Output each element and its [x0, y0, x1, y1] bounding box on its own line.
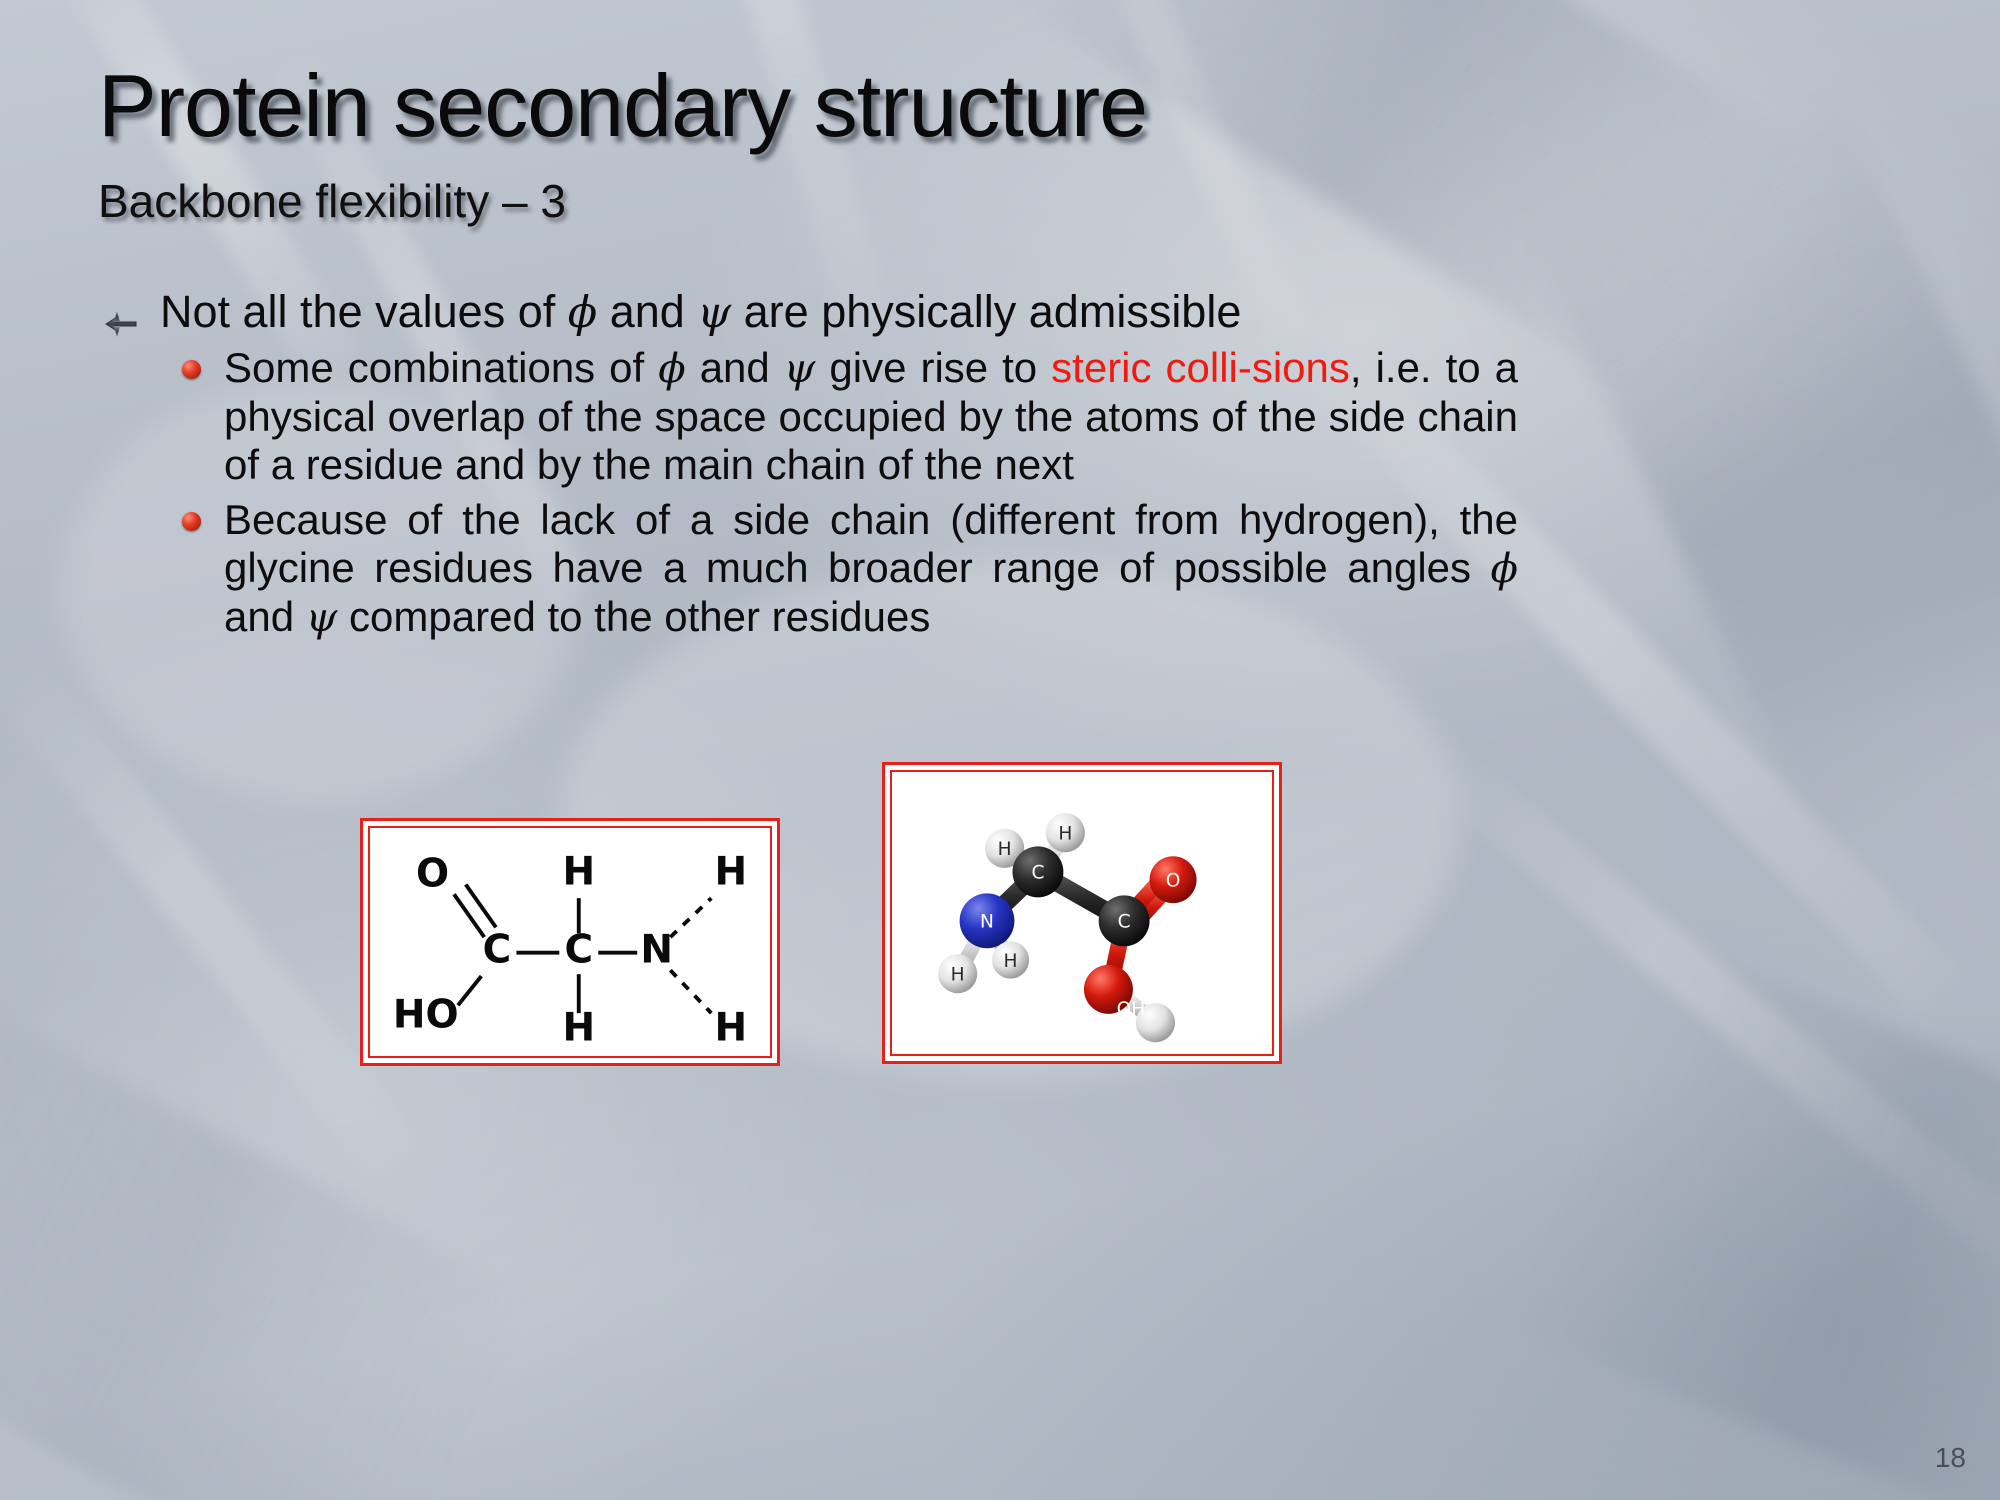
- svg-text:H: H: [714, 850, 747, 895]
- figure-inner-border: O HO C H C H N H H: [368, 826, 772, 1058]
- svg-text:H: H: [951, 965, 965, 986]
- bullet-text-segment: and: [224, 593, 306, 640]
- svg-text:N: N: [640, 927, 673, 972]
- slide-canvas: Protein secondary structure Backbone fle…: [0, 0, 2000, 1500]
- glycine-structural-formula-svg: O HO C H C H N H H: [370, 828, 770, 1056]
- bullet-text-segment: and: [686, 344, 784, 391]
- bullet-level2-item: Some combinations of ϕ and ψ give rise t…: [178, 344, 1518, 490]
- background-helix-strand: [649, 0, 892, 330]
- bullet-text-segment: give rise to: [815, 344, 1051, 391]
- svg-text:H: H: [714, 1005, 747, 1050]
- svg-text:H: H: [562, 850, 595, 895]
- svg-text:HO: HO: [393, 993, 459, 1038]
- bullet-level1-text-a: Not all the values of: [160, 286, 568, 337]
- svg-text:O: O: [416, 851, 449, 896]
- bullet-level2-item: Because of the lack of a side chain (dif…: [178, 496, 1518, 642]
- glycine-structural-formula-figure: O HO C H C H N H H: [360, 818, 780, 1066]
- page-number: 18: [1935, 1442, 1966, 1474]
- highlighted-term: steric colli-sions: [1051, 344, 1350, 391]
- bullet-text-segment: Some combinations of: [224, 344, 658, 391]
- sphere-bullet-icon: [182, 360, 201, 379]
- slide-title: Protein secondary structure: [98, 62, 1147, 150]
- background-helix-shadow: [1505, 935, 2000, 1500]
- bullet-level1-text-c: are physically admissible: [731, 286, 1241, 337]
- figure-inner-border: H H C N H H C O OH: [890, 770, 1274, 1056]
- phi-symbol: ϕ: [568, 288, 597, 338]
- svg-text:H: H: [998, 839, 1012, 860]
- psi-symbol: ψ: [697, 288, 731, 338]
- background-helix-strand: [0, 639, 421, 1180]
- svg-text:O: O: [1166, 871, 1181, 892]
- svg-text:H: H: [1058, 824, 1072, 845]
- bullet-level2-group: Some combinations of ϕ and ψ give rise t…: [98, 344, 1518, 641]
- svg-text:OH: OH: [1117, 999, 1146, 1020]
- greek-symbol: ψ: [784, 345, 816, 392]
- bullet-level1: Not all the values of ϕ and ψ are physic…: [98, 286, 1518, 338]
- bullet-level1-text-b: and: [597, 286, 697, 337]
- bullet-text-segment: Because of the lack of a side chain (dif…: [224, 496, 1518, 592]
- svg-text:C: C: [1031, 863, 1044, 884]
- slide-subtitle: Backbone flexibility – 3: [98, 178, 566, 224]
- svg-text:N: N: [980, 912, 994, 933]
- greek-symbol: ϕ: [658, 345, 685, 392]
- svg-text:C: C: [564, 927, 593, 972]
- svg-text:C: C: [1118, 912, 1131, 933]
- greek-symbol: ϕ: [1491, 545, 1518, 592]
- svg-text:C: C: [483, 927, 512, 972]
- glycine-ball-and-stick-figure: H H C N H H C O OH: [882, 762, 1282, 1064]
- slide-body: Not all the values of ϕ and ψ are physic…: [98, 286, 1518, 641]
- arrow-bullet-icon: [104, 298, 138, 328]
- greek-symbol: ψ: [306, 594, 338, 641]
- svg-text:H: H: [1004, 951, 1018, 972]
- sphere-bullet-icon: [182, 512, 201, 531]
- glycine-ball-and-stick-svg: H H C N H H C O OH: [892, 772, 1272, 1054]
- background-helix-strand: [1399, 723, 2000, 1291]
- bullet-text-segment: compared to the other residues: [337, 593, 930, 640]
- background-helix-shadow: [1524, 81, 2000, 859]
